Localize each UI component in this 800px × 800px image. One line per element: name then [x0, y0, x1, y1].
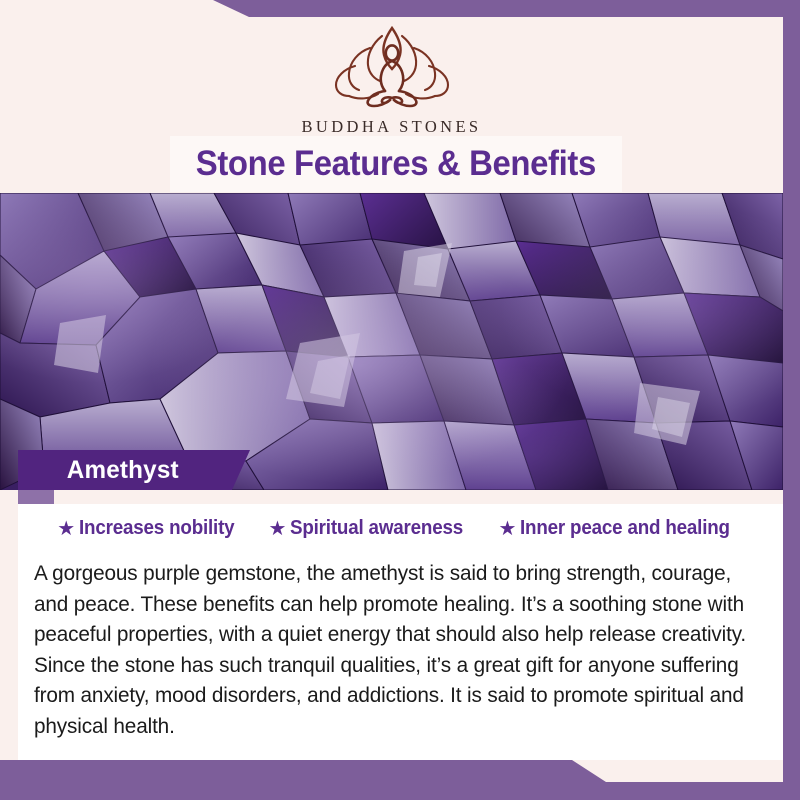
stone-name-label: Amethyst	[67, 456, 179, 485]
star-icon: ★	[269, 519, 287, 539]
benefit-label: Spiritual awareness	[290, 517, 463, 540]
lotus-meditation-figure-icon	[328, 22, 456, 114]
benefits-row: ★ Increases nobility ★ Spiritual awarene…	[18, 517, 783, 540]
benefit-item: ★ Increases nobility	[57, 517, 244, 540]
brand-wordmark: BUDDHA STONES	[301, 117, 481, 137]
benefit-item: ★ Inner peace and healing	[499, 517, 744, 540]
benefit-label: Increases nobility	[79, 517, 234, 540]
benefit-item: ★ Spiritual awareness	[269, 517, 475, 540]
star-icon: ★	[499, 519, 517, 539]
stone-name-banner: Amethyst	[18, 450, 250, 490]
content-card-gap	[18, 490, 783, 504]
page-title-plate: Stone Features & Benefits	[170, 136, 622, 192]
amethyst-hero-image	[0, 193, 783, 490]
stone-description: A gorgeous purple gemstone, the amethyst…	[34, 558, 748, 741]
brand-logo-block: BUDDHA STONES	[0, 22, 783, 137]
page-title: Stone Features & Benefits	[196, 144, 596, 184]
frame-right-band	[782, 0, 800, 800]
star-icon: ★	[57, 519, 75, 539]
stone-features-infographic: BUDDHA STONES Stone Features & Benefits	[0, 0, 800, 800]
benefit-label: Inner peace and healing	[520, 517, 730, 540]
crystal-facets-graphic	[0, 193, 783, 490]
